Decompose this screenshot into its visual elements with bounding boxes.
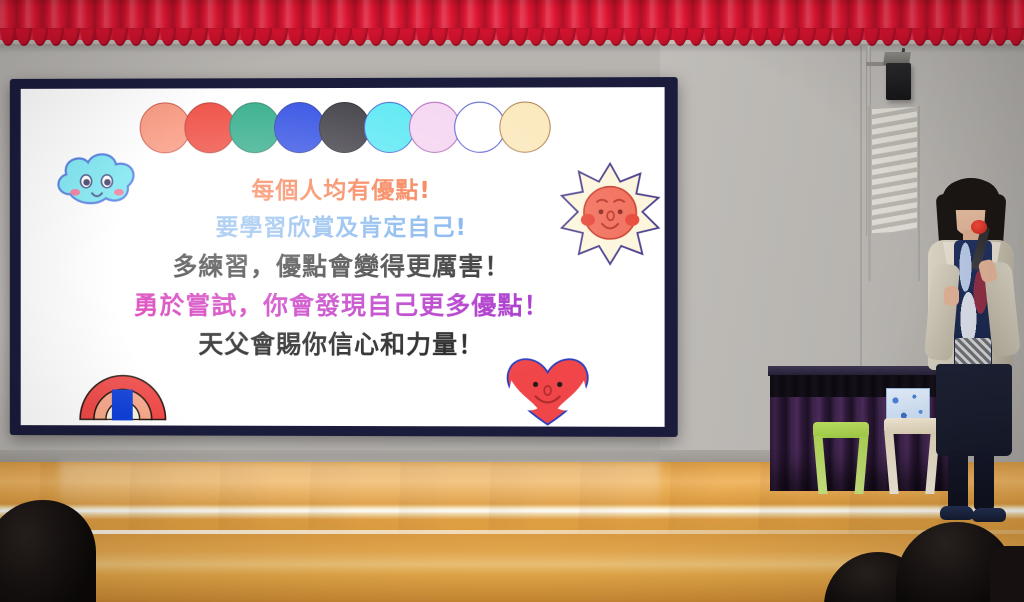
microphone-head-icon <box>971 220 987 234</box>
color-dots-row <box>140 101 551 153</box>
presenter-leg-right <box>974 450 994 510</box>
audience-head-left <box>0 500 96 602</box>
presenter-hand-left <box>944 286 959 306</box>
dot-cyan <box>364 102 415 153</box>
stool-cream-leg-left <box>884 432 898 494</box>
slide-text-block: 每個人均有優點! 要學習欣賞及肯定自己! 多練習，優點會變得更厲害！ 勇於嘗試，… <box>21 180 665 372</box>
speaker-woman <box>918 178 1024 530</box>
smiling-heart-icon <box>497 350 598 427</box>
audience-head-edge <box>990 546 1024 602</box>
dot-blue <box>274 102 325 153</box>
louvered-window-blind <box>872 107 917 233</box>
presenter-skirt <box>936 364 1012 456</box>
dot-red <box>184 102 235 153</box>
red-stage-valance <box>0 0 1024 46</box>
dot-salmon <box>140 102 191 153</box>
dot-cream <box>499 101 550 152</box>
stage-screen-reflection <box>60 462 660 520</box>
stool-green-leg-right <box>854 436 868 494</box>
dot-teal-green <box>229 102 280 153</box>
slide-line-2: 要學習欣賞及肯定自己! <box>21 217 665 240</box>
presenter-leg-left <box>948 450 968 510</box>
stool-green-leg-left <box>813 436 827 494</box>
slide-line-3: 多練習，優點會變得更厲害！ <box>21 254 665 279</box>
wall-base-trim <box>0 450 780 462</box>
rainbow-icon <box>76 350 169 422</box>
stool-green <box>813 422 869 494</box>
slide-line-4: 勇於嘗試，你會發現自己更多優點！ <box>21 293 665 318</box>
slide-line-1: 每個人均有優點! <box>21 180 665 204</box>
dot-pink <box>409 102 460 153</box>
wall-speaker-icon <box>886 63 911 100</box>
projection-screen-frame: 每個人均有優點! 要學習欣賞及肯定自己! 多練習，優點會變得更厲害！ 勇於嘗試，… <box>10 77 678 437</box>
presenter-shoe-right <box>972 508 1006 522</box>
dot-white <box>454 102 505 153</box>
dot-black <box>319 102 370 153</box>
presenter-shoe-left <box>940 506 974 520</box>
presentation-photo-scene: 每個人均有優點! 要學習欣賞及肯定自己! 多練習，優點會變得更厲害！ 勇於嘗試，… <box>0 0 1024 602</box>
projection-screen: 每個人均有優點! 要學習欣賞及肯定自己! 多練習，優點會變得更厲害！ 勇於嘗試，… <box>21 87 665 427</box>
